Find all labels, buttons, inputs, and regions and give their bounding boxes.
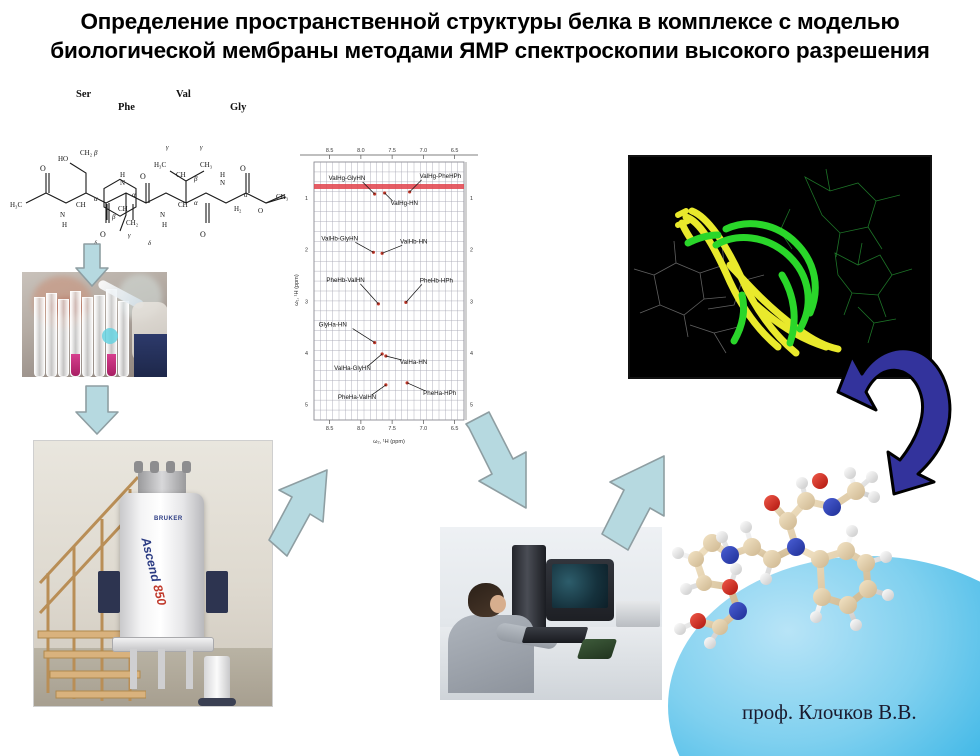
page-title: Определение пространственной структуры б…	[30, 8, 950, 66]
svg-text:H₂: H₂	[234, 205, 242, 213]
noesy-peak-label: ValHg-HN	[391, 200, 418, 207]
noesy-y-tick: 2	[305, 248, 308, 254]
residue-label-val: Val	[176, 89, 191, 100]
svg-text:α: α	[194, 199, 198, 207]
svg-text:O: O	[258, 207, 263, 215]
svg-text:CH₂: CH₂	[80, 149, 93, 157]
noesy-x-tick: 7.0	[420, 426, 428, 432]
residue-label-phe: Phe	[118, 102, 135, 113]
svg-text:α: α	[94, 195, 98, 203]
arrow-spectrometer-to-spectrum	[269, 470, 327, 556]
svg-text:CH₃: CH₃	[276, 193, 289, 201]
svg-text:γ: γ	[200, 144, 203, 151]
noesy-y-tick: 4	[470, 351, 473, 357]
ball-and-stick-molecule-image	[660, 455, 950, 685]
svg-text:H: H	[162, 221, 167, 229]
svg-text:δ: δ	[148, 240, 152, 247]
svg-text:δ: δ	[94, 240, 98, 247]
noesy-peak-label: GlyHa-HN	[319, 322, 347, 329]
noesy-x-tick: 7.0	[420, 148, 428, 154]
svg-text:O: O	[100, 230, 106, 239]
noesy-y-tick: 1	[305, 196, 308, 202]
svg-text:CH₃: CH₃	[200, 161, 213, 169]
svg-text:H: H	[220, 171, 225, 179]
svg-text:N: N	[160, 211, 165, 219]
noesy-y-tick: 5	[470, 403, 473, 409]
svg-text:CH: CH	[118, 205, 128, 213]
svg-text:γ: γ	[128, 232, 131, 239]
svg-text:CH: CH	[76, 201, 86, 209]
svg-text:β: β	[111, 213, 116, 221]
svg-text:CH₂: CH₂	[126, 219, 139, 227]
noesy-x-tick: 8.5	[326, 148, 334, 154]
residue-label-gly: Gly	[230, 102, 247, 113]
noesy-y-tick: 4	[305, 351, 308, 357]
noesy-peak-label: ValHg-PheHPh	[420, 173, 462, 180]
noesy-x-tick: 8.0	[357, 148, 365, 154]
svg-text:O: O	[40, 164, 46, 173]
noesy-peak-label: PheHa-HPh	[423, 390, 457, 397]
noesy-x-tick: 7.5	[388, 426, 396, 432]
svg-text:N: N	[120, 179, 125, 187]
noesy-x-axis-label: ω₂, ¹H (ppm)	[373, 439, 405, 445]
svg-text:H₃C: H₃C	[10, 201, 22, 209]
noesy-peak-label: ValHa-HN	[400, 359, 427, 366]
noesy-cross-peak	[406, 381, 409, 384]
svg-text:H: H	[62, 221, 67, 229]
arrow-tubes-to-spectrometer	[76, 386, 118, 434]
highlight-band	[314, 184, 464, 189]
slide-root: Определение пространственной структуры б…	[0, 0, 980, 735]
author-attribution: проф. Клочков В.В.	[742, 700, 917, 725]
noesy-peak-label: ValHb-GlyHN	[321, 235, 358, 242]
svg-text:H₃C: H₃C	[154, 161, 166, 169]
svg-text:β: β	[193, 175, 198, 183]
noesy-x-tick: 6.5	[451, 426, 459, 432]
noesy-x-tick: 7.5	[388, 148, 396, 154]
noesy-y-tick: 1	[470, 196, 473, 202]
noesy-peak-label: PheHa-ValHN	[338, 394, 376, 401]
svg-text:CH: CH	[176, 171, 186, 179]
nmr-spectrometer-photo: BRUKER Ascend 850	[33, 440, 273, 707]
noesy-x-tick: 6.5	[451, 148, 459, 154]
svg-text:β: β	[93, 149, 98, 157]
noesy-y-tick: 2	[470, 248, 473, 254]
noesy-x-tick: 8.5	[326, 426, 334, 432]
noesy-peak-label: ValHa-GlyHN	[334, 365, 371, 372]
svg-text:CH: CH	[178, 201, 188, 209]
svg-text:N: N	[220, 179, 225, 187]
computer-workstation-photo	[440, 527, 662, 700]
residue-label-ser: Ser	[76, 89, 92, 100]
noesy-y-tick: 3	[305, 299, 308, 305]
brand-label: BRUKER	[154, 516, 183, 522]
protein-3d-structure-image	[628, 155, 932, 379]
svg-text:O: O	[240, 164, 246, 173]
noesy-peak-label: ValHb-HN	[400, 238, 427, 245]
svg-text:O: O	[140, 172, 146, 181]
svg-text:α: α	[244, 191, 248, 199]
noesy-2d-nmr-spectrum: ValHg-GlyHNValHg-HNValHg-PheHPhValHb-Gly…	[288, 140, 488, 455]
svg-text:N: N	[60, 211, 65, 219]
noesy-y-axis-label: ω₁, ¹H (ppm)	[294, 274, 300, 306]
noesy-peak-label: ValHg-GlyHN	[329, 175, 366, 182]
svg-text:O: O	[200, 230, 206, 239]
noesy-x-tick: 8.0	[357, 426, 365, 432]
svg-text:γ: γ	[166, 144, 169, 151]
noesy-y-tick: 5	[305, 403, 308, 409]
svg-text:HO: HO	[58, 155, 68, 163]
noesy-peak-label: PheHb-ValHN	[326, 277, 364, 284]
peptide-structural-formula: Ser Phe Val Gly H₃C O N H HO CH₂ CH O N …	[8, 85, 308, 250]
test-tubes-photo	[22, 272, 167, 377]
noesy-y-tick: 3	[470, 299, 473, 305]
svg-text:α: α	[132, 191, 136, 199]
noesy-peak-label: PheHb-HPh	[420, 277, 454, 284]
svg-text:H: H	[120, 171, 125, 179]
